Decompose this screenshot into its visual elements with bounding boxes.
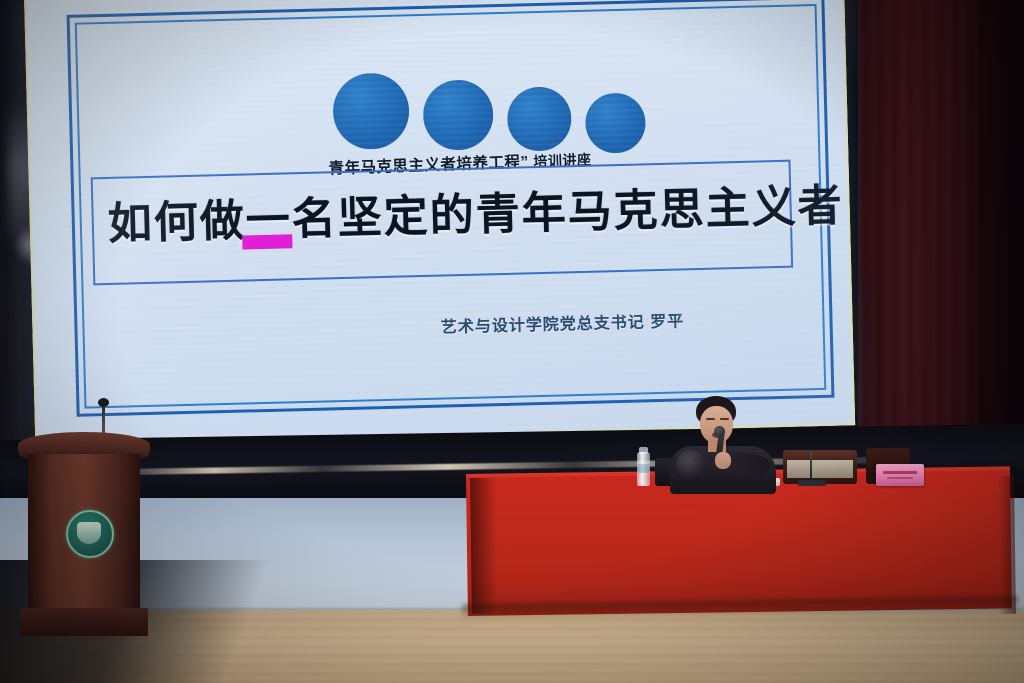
name-plate-text-line — [883, 471, 918, 474]
seated-presenter — [668, 396, 778, 492]
bottle-label — [637, 464, 650, 473]
table-microphone-icon — [810, 452, 812, 482]
podium-microphone-icon — [98, 398, 109, 407]
podium-microphone-stem-icon — [102, 404, 105, 434]
stage-curtain — [858, 0, 986, 470]
presenter-shoulder-highlight — [676, 450, 706, 480]
photo-scene: 青年马克思主义者培养工程” 培训讲座 如何做一名坚定的青年马克思主义者 艺术与设… — [0, 0, 1024, 683]
stage-curtain-edge — [978, 0, 1024, 470]
cloth-fold-right — [998, 476, 1016, 614]
presenter-brow — [720, 418, 729, 420]
chair-cushion — [787, 460, 853, 478]
screen-surface: 青年马克思主义者培养工程” 培训讲座 如何做一名坚定的青年马克思主义者 艺术与设… — [24, 0, 855, 446]
desk-item-small — [798, 480, 826, 486]
projection-screen: 青年马克思主义者培养工程” 培训讲座 如何做一名坚定的青年马克思主义者 艺术与设… — [24, 0, 855, 446]
presenter-hand — [715, 452, 731, 469]
podium-base — [20, 608, 148, 636]
university-crest-icon — [66, 510, 114, 558]
name-plate-text-line — [887, 477, 914, 479]
cloth-fold-left — [470, 478, 498, 614]
microphone-head-icon — [714, 426, 725, 437]
presenter-face — [700, 406, 733, 444]
screen-frame — [24, 0, 855, 446]
presenter-brow — [706, 418, 715, 420]
lectern-podium — [18, 432, 150, 637]
name-plate — [876, 464, 924, 486]
